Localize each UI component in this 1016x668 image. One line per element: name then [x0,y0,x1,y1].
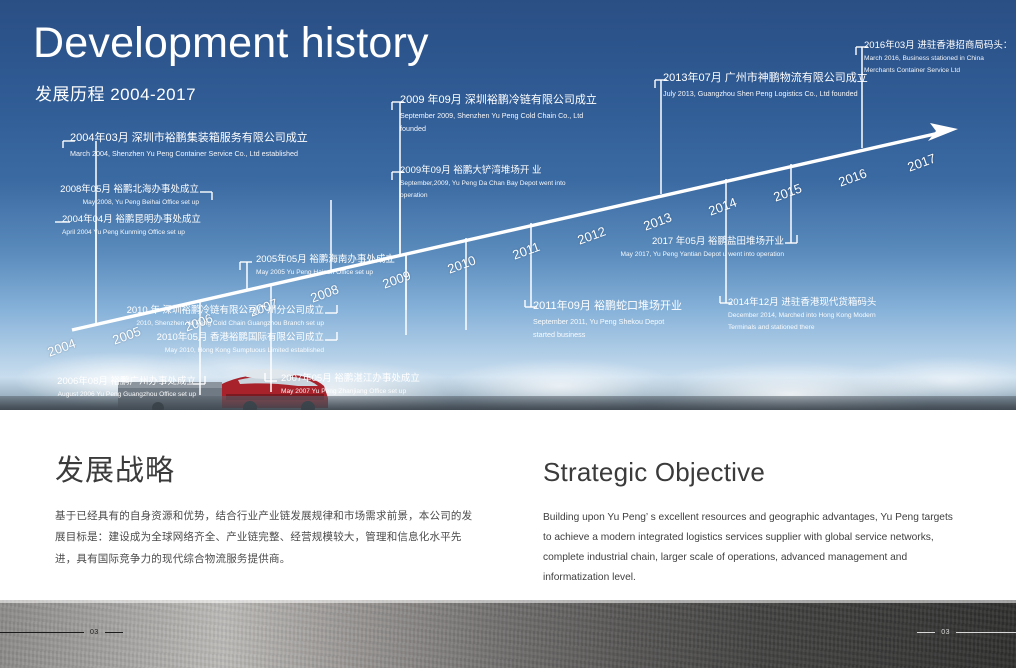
event-title-en: September,2009, Yu Peng Da Chan Bay Depo… [400,178,566,190]
page-number-right-value: 03 [941,629,950,636]
event-title-en-2: Terminals and stationed there [728,322,876,334]
timeline-event-2011-09: 2011年09月 裕鹏蛇口堆场开业 September 2011, Yu Pen… [533,299,682,342]
strategy-column-en: Strategic Objective Building upon Yu Pen… [543,410,963,588]
page-subtitle: 发展历程 2004-2017 [35,80,196,105]
timeline-event-2013-07: 2013年07月 广州市神鹏物流有限公司成立 July 2013, Guangz… [663,71,868,100]
event-title-en: May 2010, Hong Kong Sumptuous Limited es… [0,345,324,357]
event-title-en-2: founded [400,122,597,135]
event-title-zh: 2008年05月 裕鹏北海办事处成立 [0,183,199,197]
timeline-event-2014-12: 2014年12月 进驻香港现代货箱码头 December 2014, March… [728,296,876,334]
timeline-event-2004-04: 2004年04月 裕鹏昆明办事处成立 April 2004 Yu Peng Ku… [62,213,201,239]
timeline-event-2016-03: 2016年03月 进驻香港招商局码头： March 2016, Business… [864,39,1012,77]
slide-page: Development history 发展历程 2004-2017 2004 … [0,0,1016,668]
event-title-zh: 2009年09月 裕鹏大铲湾堆场开 业 [400,164,566,178]
event-title-zh: 2014年12月 进驻香港现代货箱码头 [728,296,876,310]
event-title-en-2: Merchants Container Service Ltd [864,65,1012,77]
strategy-section: 发展战略 基于已经具有的自身资源和优势，结合行业产业链发展规律和市场需求前景，本… [0,410,1016,600]
event-title-zh: 2011年09月 裕鹏蛇口堆场开业 [533,299,682,315]
timeline-event-2010-05-hongkong: 2010年05月 香港裕鹏国际有限公司成立 May 2010, Hong Kon… [0,331,324,357]
timeline-event-2007-05: 2007年05月 裕鹏湛江办事处成立 May 2007 Yu Peng Zhan… [281,372,420,398]
event-title-en: September 2009, Shenzhen Yu Peng Cold Ch… [400,109,597,122]
timeline-event-2009-09-coldchain: 2009 年09月 深圳裕鹏冷链有限公司成立 September 2009, S… [400,93,597,136]
timeline-event-2005-05: 2005年05月 裕鹏海南办事处成立 May 2005 Yu Peng Hain… [256,253,395,279]
event-title-en: 2010, Shenzhen Yu Peng Cold Chain Guangz… [0,318,324,330]
event-title-en: September 2011, Yu Peng Shekou Depot [533,315,682,328]
event-title-en-2: operation [400,190,566,202]
event-title-en: May 2008, Yu Peng Beihai Office set up [0,197,199,209]
event-title-en: April 2004 Yu Peng Kunming Office set up [62,227,201,239]
page-number-right: 03 [917,629,1016,636]
timeline-event-2009-09-dachanbay: 2009年09月 裕鹏大铲湾堆场开 业 September,2009, Yu P… [400,164,566,202]
road-texture [0,600,1016,668]
event-title-en: August 2006 Yu Peng Guangzhou Office set… [0,389,196,401]
page-rule-left-short [105,632,123,633]
event-title-zh: 2010 年 深圳裕鹏冷链有限公司广州分公司成立 [0,304,324,318]
timeline-event-2006-08: 2006年08月 裕鹏广州办事处成立 August 2006 Yu Peng G… [0,375,196,401]
timeline-event-2008-05: 2008年05月 裕鹏北海办事处成立 May 2008, Yu Peng Bei… [0,183,199,209]
event-title-zh: 2004年03月 深圳市裕鹏集装箱服务有限公司成立 [70,131,308,147]
page-rule-right-long [956,632,1016,633]
event-title-en: July 2013, Guangzhou Shen Peng Logistics… [663,87,868,100]
event-title-zh: 2017 年05月 裕鹏盐田堆场开业 [600,235,784,249]
event-title-en-2: started business [533,328,682,341]
event-title-en: May 2007 Yu Peng Zhanjiang Office set up [281,386,420,398]
timeline-event-2004-03: 2004年03月 深圳市裕鹏集装箱服务有限公司成立 March 2004, Sh… [70,131,308,160]
event-title-zh: 2009 年09月 深圳裕鹏冷链有限公司成立 [400,93,597,109]
event-title-en: May 2005 Yu Peng Hainan Office set up [256,267,395,279]
timeline-arrowhead [928,123,958,141]
strategy-body-zh: 基于已经具有的自身资源和优势，结合行业产业链发展规律和市场需求前景，本公司的发展… [55,506,475,571]
event-title-en: December 2014, Marched into Hong Kong Mo… [728,310,876,322]
page-number-left-value: 03 [90,629,99,636]
timeline-event-2017-05: 2017 年05月 裕鹏盐田堆场开业 May 2017, Yu Peng Yan… [600,235,784,261]
timeline-hero-panel: Development history 发展历程 2004-2017 2004 … [0,0,1016,410]
road-footer-image: 03 03 [0,600,1016,668]
road-top-edge [0,600,1016,603]
event-title-en: March 2016, Business stationed in China [864,53,1012,65]
strategy-column-zh: 发展战略 基于已经具有的自身资源和优势，结合行业产业链发展规律和市场需求前景，本… [55,410,475,570]
event-title-en: March 2004, Shenzhen Yu Peng Container S… [70,147,308,160]
event-title-en: May 2017, Yu Peng Yantian Depot u went i… [600,249,784,261]
event-title-zh: 2013年07月 广州市神鹏物流有限公司成立 [663,71,868,87]
timeline-event-2010-guangzhou: 2010 年 深圳裕鹏冷链有限公司广州分公司成立 2010, Shenzhen … [0,304,324,330]
page-number-left: 03 [0,629,123,636]
strategy-body-en: Building upon Yu Peng’ s excellent resou… [543,508,963,588]
strategy-heading-zh: 发展战略 [55,454,475,489]
event-title-zh: 2005年05月 裕鹏海南办事处成立 [256,253,395,267]
event-title-zh: 2006年08月 裕鹏广州办事处成立 [0,375,196,389]
event-title-zh: 2016年03月 进驻香港招商局码头： [864,39,1012,53]
page-rule-left-long [0,632,84,633]
event-title-zh: 2007年05月 裕鹏湛江办事处成立 [281,372,420,386]
page-rule-right-short [917,632,935,633]
page-title: Development history [33,20,429,67]
strategy-heading-en: Strategic Objective [543,457,963,488]
event-title-zh: 2004年04月 裕鹏昆明办事处成立 [62,213,201,227]
event-title-zh: 2010年05月 香港裕鹏国际有限公司成立 [0,331,324,345]
